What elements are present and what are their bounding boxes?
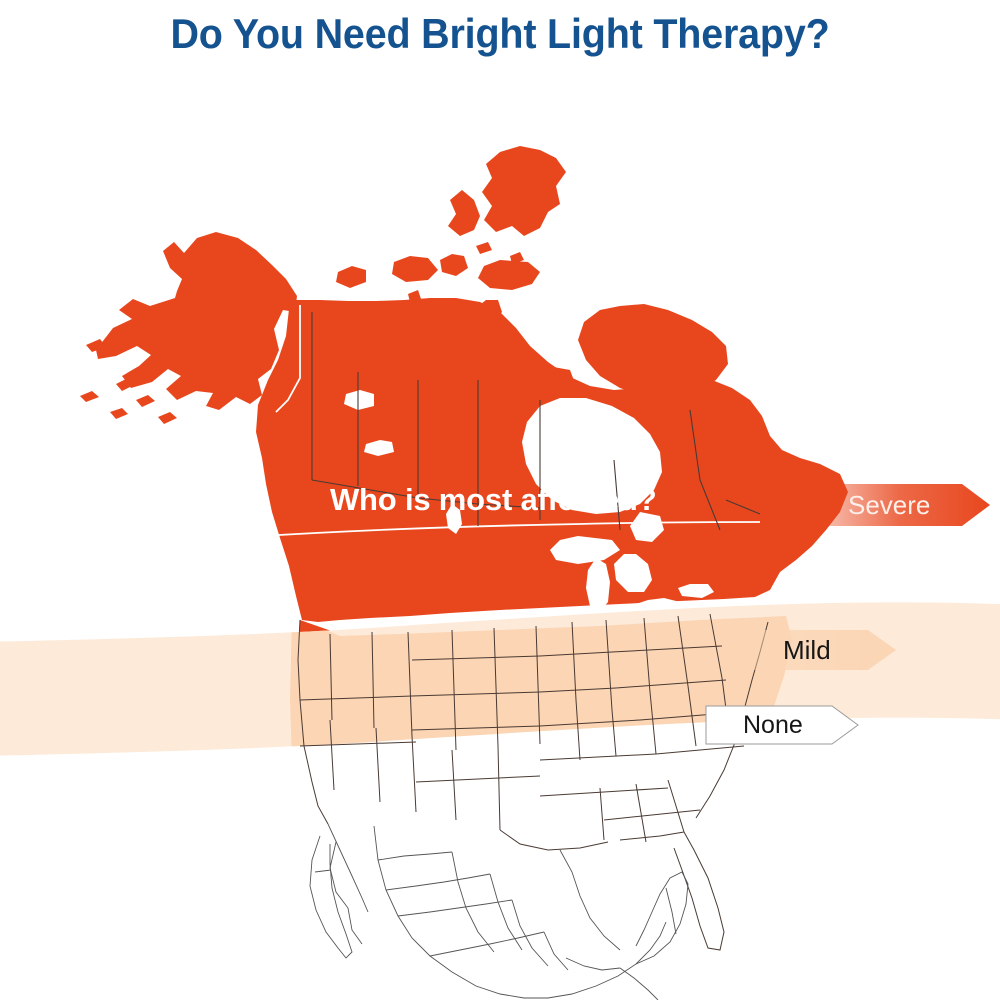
baffin-island [578,304,728,398]
melville-island [392,256,438,282]
usa-mexico-none-landmass [300,746,756,858]
alaska-shape [80,232,297,410]
north-america-severity-map [0,60,1000,1000]
ellesmere-island [482,146,566,236]
map-svg [0,60,1000,1000]
small-island-3 [476,242,492,254]
legend-label-none: None [743,713,803,738]
legend-item-mild[interactable]: Mild [735,630,900,670]
legend-label-mild: Mild [783,637,831,663]
small-island-1 [408,290,422,302]
legend-item-none[interactable]: None [705,706,865,744]
page-title: Do You Need Bright Light Therapy? [30,8,970,60]
axel-heiberg-island [448,190,480,236]
legend-item-severe[interactable]: Severe [790,484,995,526]
prince-patrick-island [336,266,366,288]
bathurst-island [440,254,468,276]
none-band-land [300,746,756,858]
infographic-canvas: Do You Need Bright Light Therapy? [0,0,1000,1000]
map-caption: Who is most affected? [330,481,657,519]
aleutian-chain [110,395,177,424]
legend-label-severe: Severe [848,492,930,518]
devon-island [478,260,540,290]
